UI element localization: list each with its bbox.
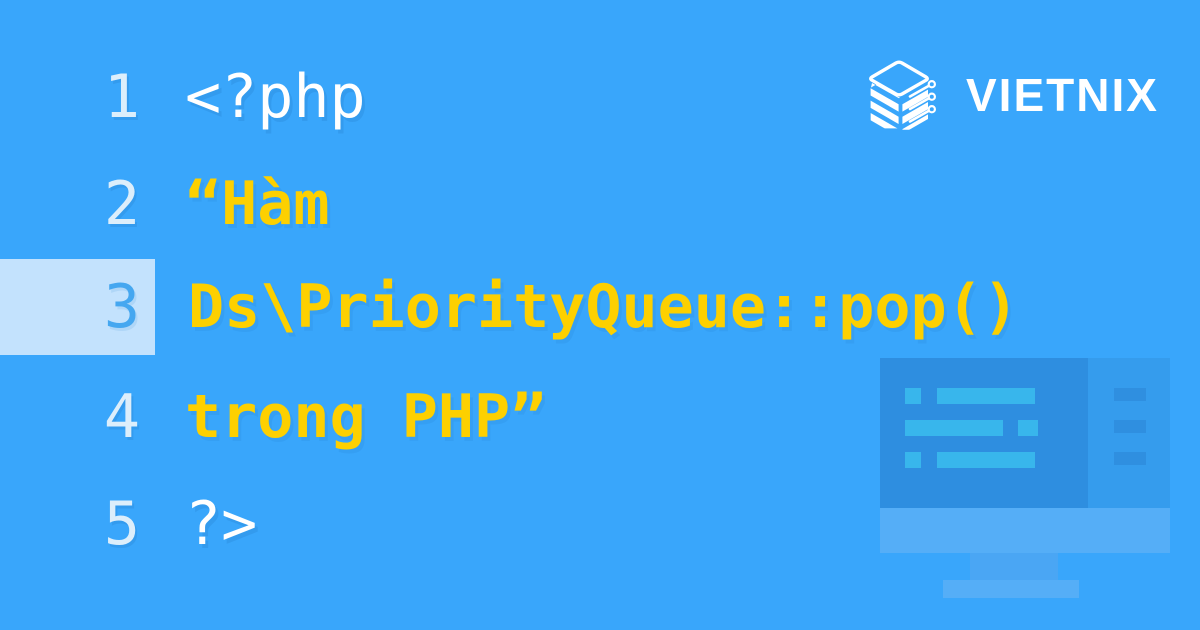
line-gutter-highlighted: 3 bbox=[0, 259, 155, 355]
code-line-text: “Hàm bbox=[155, 174, 330, 234]
line-gutter: 5 bbox=[0, 476, 155, 572]
line-gutter: 2 bbox=[0, 156, 155, 252]
code-line-text: ?> bbox=[155, 494, 257, 554]
code-line-highlighted: 3 Ds\PriorityQueue::pop() bbox=[0, 259, 1200, 355]
code-line: 4 trong PHP” bbox=[0, 369, 1200, 465]
code-line: 2 “Hàm bbox=[0, 156, 1200, 252]
line-gutter: 1 bbox=[0, 49, 155, 145]
line-gutter: 4 bbox=[0, 369, 155, 465]
code-line-text: <?php bbox=[155, 67, 366, 127]
line-number: 1 bbox=[104, 67, 140, 127]
code-line: 1 <?php bbox=[0, 49, 1200, 145]
code-line: 5 ?> bbox=[0, 476, 1200, 572]
line-number: 4 bbox=[104, 387, 140, 447]
line-number: 2 bbox=[104, 174, 140, 234]
banner-canvas: VIETNIX 1 <?php 2 “Hàm 3 Ds\PriorityQueu… bbox=[0, 0, 1200, 630]
line-number: 3 bbox=[104, 277, 140, 337]
code-block: 1 <?php 2 “Hàm 3 Ds\PriorityQueue::pop()… bbox=[0, 0, 1200, 630]
code-line-text: Ds\PriorityQueue::pop() bbox=[155, 277, 1019, 337]
line-number: 5 bbox=[104, 494, 140, 554]
code-line-text: trong PHP” bbox=[155, 387, 546, 447]
